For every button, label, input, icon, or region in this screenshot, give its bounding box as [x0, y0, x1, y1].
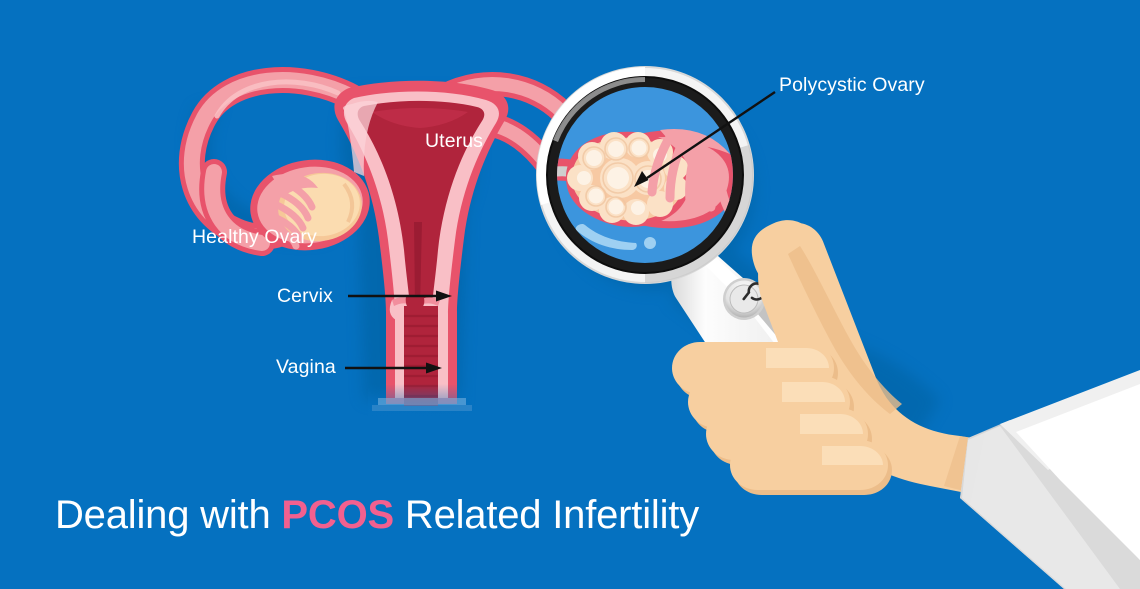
headline-post: Related Infertility — [394, 493, 699, 537]
finger-4 — [730, 440, 892, 495]
magnifying-glass — [537, 67, 754, 283]
label-vagina: Vagina — [276, 358, 336, 378]
headline: Dealing with PCOS Related Infertility — [55, 492, 699, 538]
infographic-canvas: Healthy Ovary Cervix Vagina Uterus Polyc… — [0, 0, 1140, 589]
label-uterus: Uterus — [425, 132, 483, 152]
label-polycystic-ovary: Polycystic Ovary — [779, 76, 925, 96]
headline-accent: PCOS — [281, 493, 394, 537]
lab-coat-sleeve — [960, 370, 1140, 589]
label-healthy-ovary: Healthy Ovary — [192, 228, 317, 248]
lens-glare-dot — [644, 237, 656, 249]
headline-pre: Dealing with — [55, 493, 281, 537]
label-cervix: Cervix — [277, 287, 333, 307]
